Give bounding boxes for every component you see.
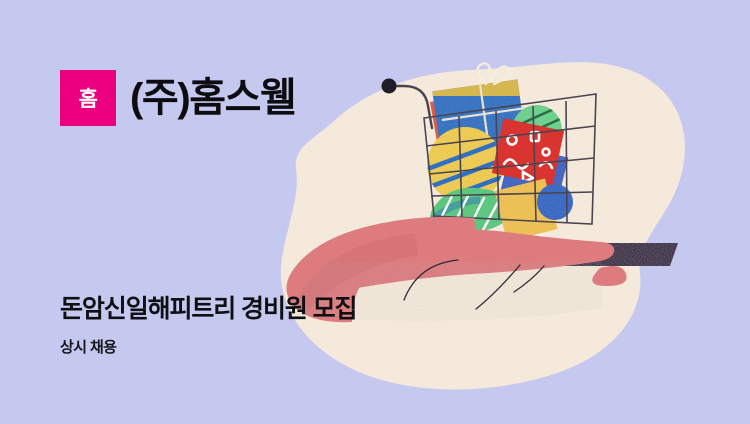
company-name: (주)홈스웰 [130, 78, 295, 118]
subline: 상시 채용 [60, 340, 116, 357]
logo-badge: 홈 [60, 70, 116, 126]
recruitment-banner: 홈 (주)홈스웰 돈암신일해피트리 경비원 모집 상시 채용 [0, 0, 750, 424]
logo-row: 홈 (주)홈스웰 [60, 70, 295, 126]
headline: 돈암신일해피트리 경비원 모집 [60, 296, 356, 324]
illustration-canvas [0, 0, 750, 424]
cart-handle-knob [382, 79, 397, 94]
